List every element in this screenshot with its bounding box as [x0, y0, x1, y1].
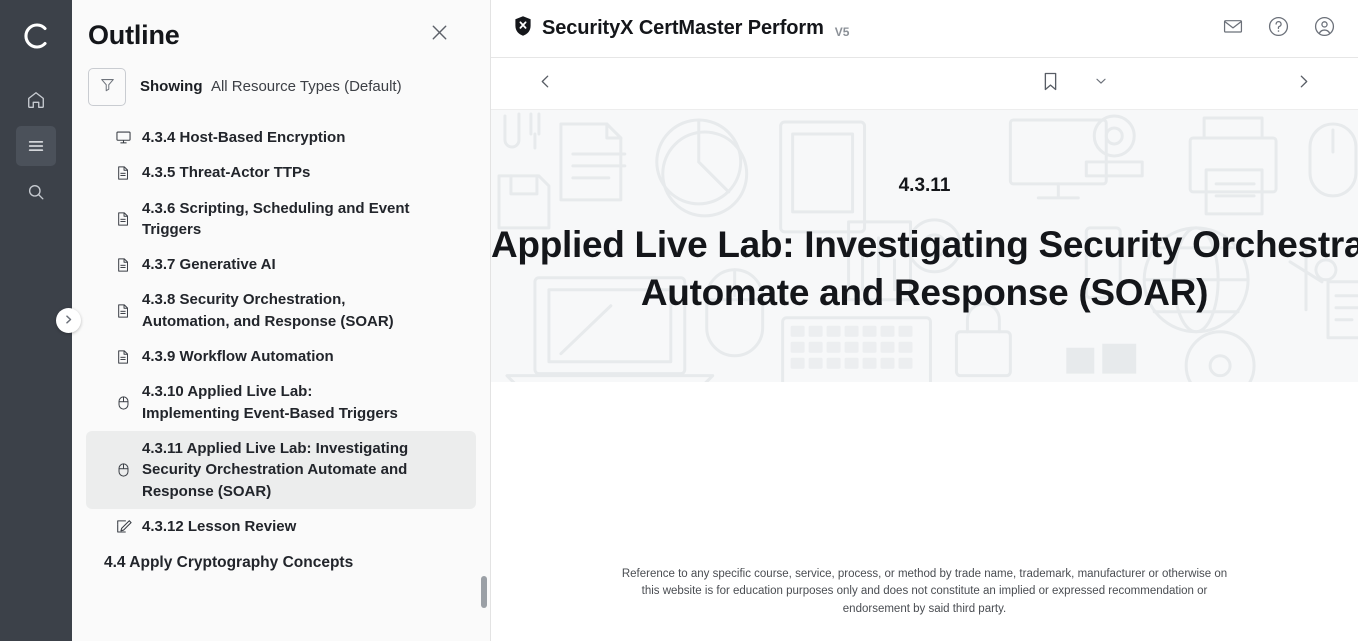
- lesson-number: 4.3.11: [491, 175, 1358, 197]
- app-title: SecurityX CertMaster Perform: [542, 17, 824, 40]
- filter-button[interactable]: [88, 68, 126, 106]
- list-item-selected[interactable]: 4.3.11 Applied Live Lab: Investigating S…: [86, 431, 476, 509]
- list-item-label: 4.3.7 Generative AI: [142, 254, 276, 275]
- hamburger-menu-icon: [26, 136, 46, 156]
- pencil-edit-icon: [114, 518, 132, 536]
- top-bar: SecurityX CertMaster Perform V5: [491, 0, 1358, 58]
- chevron-down-icon: [1094, 74, 1108, 93]
- expand-rail-button[interactable]: [56, 308, 81, 333]
- list-item[interactable]: 4.3.7 Generative AI: [86, 247, 476, 282]
- showing-label: Showing: [140, 78, 203, 95]
- scrollbar-thumb[interactable]: [481, 576, 487, 608]
- chevron-left-icon: [537, 73, 554, 95]
- brand: SecurityX CertMaster Perform V5: [513, 15, 849, 42]
- filter-row: Showing All Resource Types (Default): [72, 62, 490, 120]
- lesson-title-line2: Automate and Response (SOAR): [491, 269, 1358, 317]
- list-item-label: 4.3.10 Applied Live Lab: Implementing Ev…: [142, 381, 412, 424]
- question-circle-icon: [1267, 15, 1290, 43]
- lesson-title: Applied Live Lab: Investigating Security…: [491, 221, 1358, 317]
- content-navbar: [491, 58, 1358, 110]
- bookmark-button[interactable]: [1035, 65, 1066, 103]
- list-item[interactable]: 4.3.8 Security Orchestration, Automation…: [86, 282, 476, 339]
- outline-list: 4.3.4 Host-Based Encryption 4.3.5 Threat…: [72, 120, 490, 641]
- document-icon: [114, 210, 132, 228]
- list-item[interactable]: 4.3.4 Host-Based Encryption: [86, 120, 476, 155]
- rail-nav: [16, 80, 56, 212]
- search-icon: [26, 182, 46, 202]
- lesson-hero-banner: 4.3.11 Applied Live Lab: Investigating S…: [491, 110, 1358, 382]
- close-outline-button[interactable]: [425, 18, 454, 52]
- list-item[interactable]: 4.3.9 Workflow Automation: [86, 339, 476, 374]
- list-item[interactable]: 4.3.10 Applied Live Lab: Implementing Ev…: [86, 374, 476, 431]
- close-icon: [429, 22, 450, 48]
- mouse-icon: [114, 394, 132, 412]
- main-content: SecurityX CertMaster Perform V5: [491, 0, 1358, 641]
- footer: Reference to any specific course, servic…: [491, 566, 1358, 641]
- list-item-label: 4.3.8 Security Orchestration, Automation…: [142, 289, 412, 332]
- hero-text: 4.3.11 Applied Live Lab: Investigating S…: [491, 175, 1358, 317]
- document-icon: [114, 256, 132, 274]
- user-circle-icon: [1313, 15, 1336, 43]
- outline-header: Outline: [72, 0, 490, 62]
- top-bar-actions: [1222, 15, 1336, 43]
- list-item[interactable]: 4.3.5 Threat-Actor TTPs: [86, 155, 476, 190]
- app-root: Outline Showing All: [0, 0, 1358, 641]
- account-button[interactable]: [1313, 15, 1336, 43]
- filter-showing-text: Showing All Resource Types (Default): [140, 78, 402, 96]
- document-icon: [114, 164, 132, 182]
- filter-funnel-icon: [99, 76, 116, 98]
- list-item-label: 4.3.12 Lesson Review: [142, 516, 296, 537]
- showing-value: All Resource Types (Default): [211, 78, 402, 95]
- document-icon: [114, 302, 132, 320]
- outline-panel: Outline Showing All: [72, 0, 491, 641]
- mail-button[interactable]: [1222, 15, 1244, 42]
- sidebar-item-search[interactable]: [16, 172, 56, 212]
- bookmark-icon: [1041, 71, 1060, 97]
- footer-disclaimer: Reference to any specific course, servic…: [621, 566, 1228, 619]
- left-rail: [0, 0, 72, 641]
- bookmark-dropdown-button[interactable]: [1088, 68, 1114, 99]
- mouse-icon: [114, 461, 132, 479]
- sidebar-item-home[interactable]: [16, 80, 56, 120]
- outline-scrollbar[interactable]: [481, 120, 487, 641]
- lesson-body: [491, 382, 1358, 566]
- home-icon: [26, 90, 46, 110]
- chevron-right-icon: [63, 312, 74, 330]
- previous-page-button[interactable]: [531, 67, 560, 101]
- comptia-c-logo-icon[interactable]: [12, 12, 60, 60]
- bookmark-group: [1035, 65, 1114, 103]
- lesson-title-line1: Applied Live Lab: Investigating Security…: [491, 224, 1358, 265]
- next-page-button[interactable]: [1289, 67, 1318, 101]
- version-badge: V5: [835, 25, 850, 39]
- page-title: Outline: [88, 20, 180, 51]
- list-item-label: 4.3.9 Workflow Automation: [142, 346, 334, 367]
- monitor-icon: [114, 129, 132, 147]
- list-item-label: 4.3.6 Scripting, Scheduling and Event Tr…: [142, 198, 412, 241]
- list-item-label: 4.3.5 Threat-Actor TTPs: [142, 162, 310, 183]
- envelope-icon: [1222, 15, 1244, 42]
- chevron-right-icon: [1295, 73, 1312, 95]
- outline-group-heading[interactable]: 4.4 Apply Cryptography Concepts: [86, 544, 476, 580]
- help-button[interactable]: [1267, 15, 1290, 43]
- shield-x-icon: [513, 15, 533, 42]
- list-item[interactable]: 4.3.6 Scripting, Scheduling and Event Tr…: [86, 191, 476, 248]
- sidebar-item-outline[interactable]: [16, 126, 56, 166]
- document-icon: [114, 348, 132, 366]
- list-item[interactable]: 4.3.12 Lesson Review: [86, 509, 476, 544]
- list-item-label: 4.3.4 Host-Based Encryption: [142, 127, 345, 148]
- list-item-label: 4.3.11 Applied Live Lab: Investigating S…: [142, 438, 412, 502]
